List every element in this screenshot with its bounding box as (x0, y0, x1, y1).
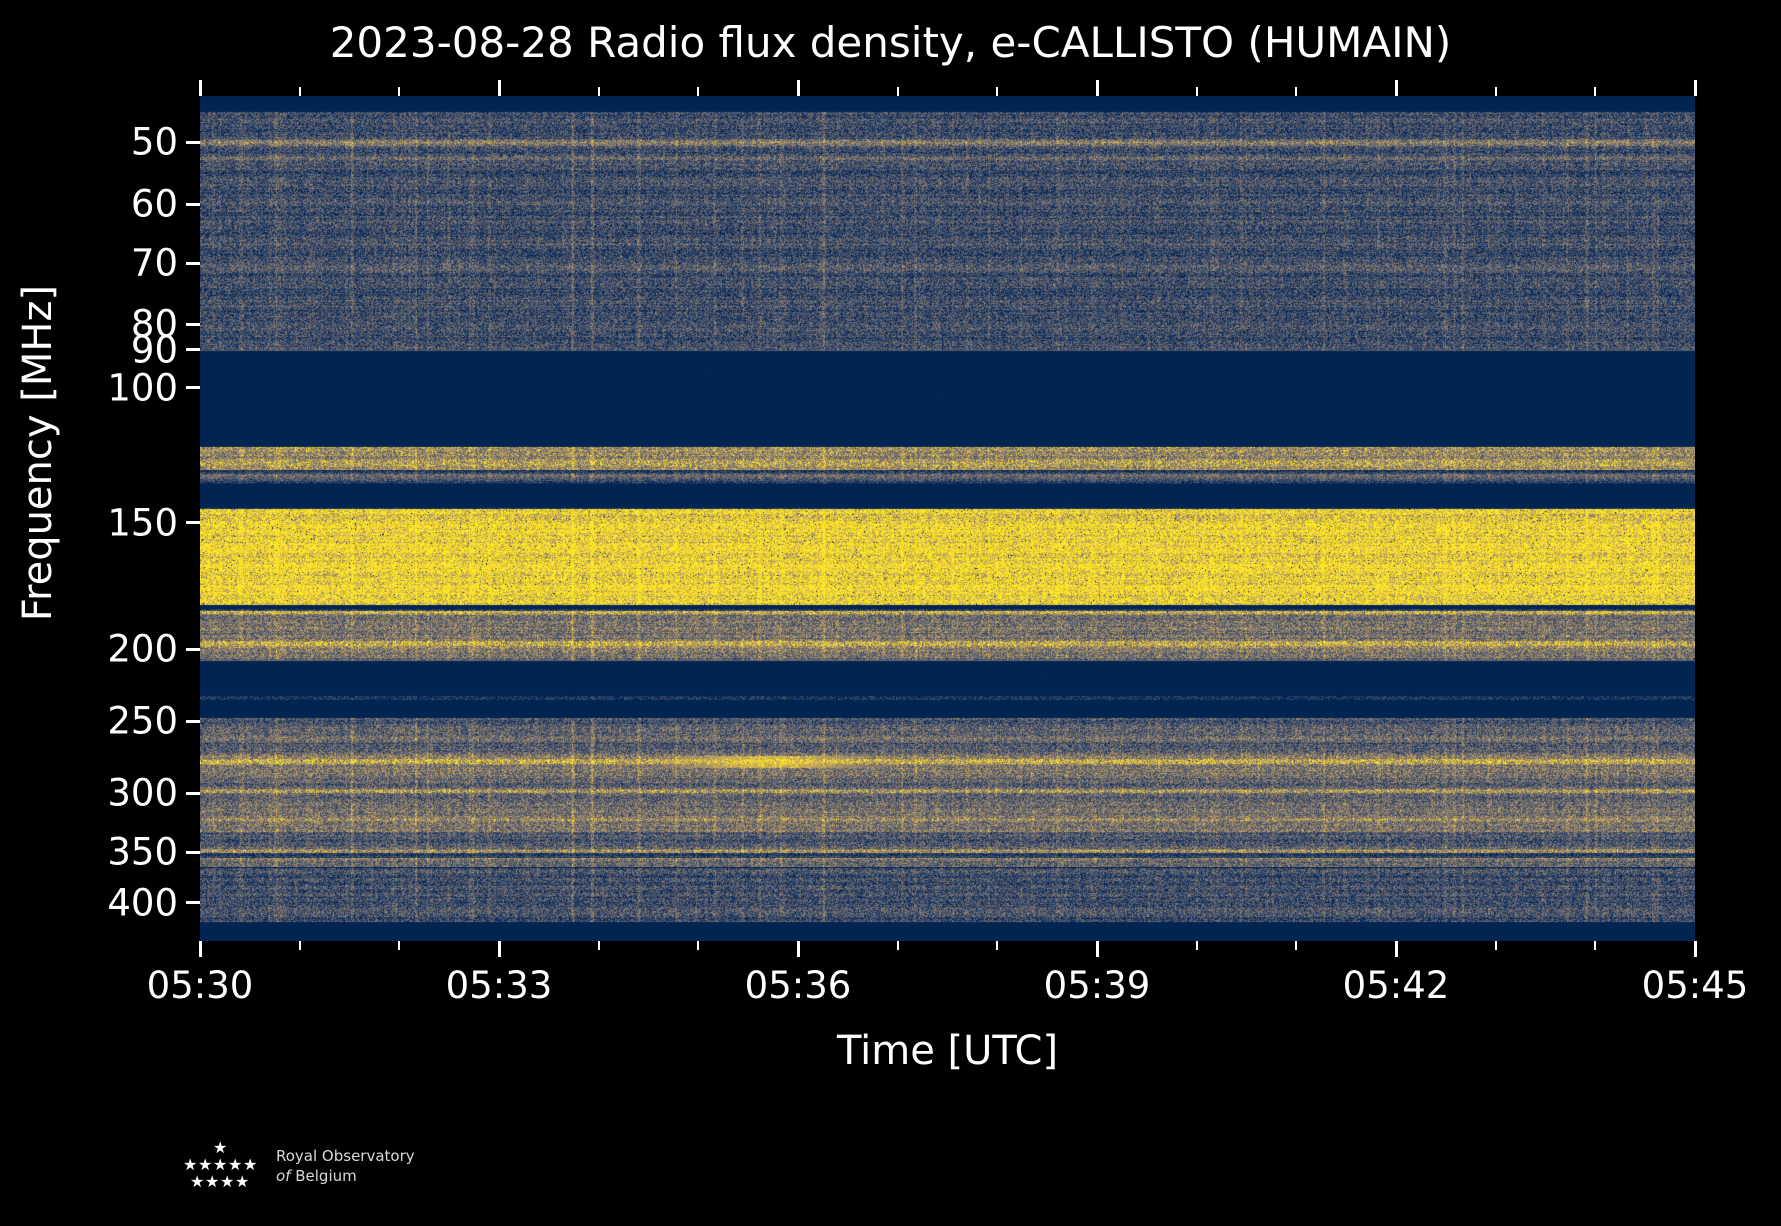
x-tick-top-15 (1694, 80, 1697, 96)
page-title: 2023-08-28 Radio flux density, e-CALLIST… (0, 18, 1781, 67)
x-tick-11 (1295, 941, 1297, 950)
y-tick-label-350: 350 (107, 834, 178, 871)
spectrogram-canvas[interactable] (200, 96, 1695, 941)
x-tick-top-0 (199, 80, 202, 96)
star-icon: ★ (205, 1174, 219, 1190)
star-icon: ★ (213, 1157, 227, 1173)
y-tick-400 (186, 901, 200, 904)
x-tick-2 (398, 941, 400, 950)
x-tick-top-5 (697, 87, 699, 96)
x-tick-top-7 (897, 87, 899, 96)
star-icon: ★ (235, 1174, 249, 1190)
y-tick-label-50: 50 (131, 124, 178, 161)
spectrogram-image (200, 96, 1695, 941)
y-tick-50 (186, 141, 200, 144)
y-tick-250 (186, 720, 200, 723)
y-tick-100 (186, 386, 200, 389)
y-tick-300 (186, 792, 200, 795)
y-axis: 5060708090100150200250300350400 (0, 96, 200, 941)
x-tick-5 (697, 941, 699, 950)
star-icon: ★ (183, 1157, 197, 1173)
x-tick-7 (897, 941, 899, 950)
x-tick-top-13 (1495, 87, 1497, 96)
x-tick-label-05-42: 05:42 (1343, 967, 1450, 1004)
logo-line-1: Royal Observatory (276, 1146, 415, 1166)
y-tick-label-200: 200 (107, 631, 178, 668)
x-tick-13 (1495, 941, 1497, 950)
star-icon: ★ (213, 1140, 227, 1156)
logo-belgium: Belgium (295, 1167, 357, 1185)
x-tick-3 (498, 941, 501, 957)
x-tick-8 (996, 941, 998, 950)
x-tick-label-05-36: 05:36 (745, 967, 852, 1004)
x-tick-9 (1096, 941, 1099, 957)
x-tick-0 (199, 941, 202, 957)
x-tick-label-05-45: 05:45 (1642, 967, 1749, 1004)
x-tick-4 (598, 941, 600, 950)
x-tick-top-1 (299, 87, 301, 96)
x-tick-top-11 (1295, 87, 1297, 96)
y-tick-150 (186, 521, 200, 524)
y-tick-label-250: 250 (107, 703, 178, 740)
x-axis-title: Time [UTC] (200, 1028, 1695, 1074)
x-tick-top-12 (1395, 80, 1398, 96)
y-tick-70 (186, 262, 200, 265)
y-tick-label-150: 150 (107, 504, 178, 541)
y-tick-label-400: 400 (107, 884, 178, 921)
star-icon: ★ (228, 1157, 242, 1173)
x-tick-top-10 (1196, 87, 1198, 96)
star-icon: ★ (190, 1174, 204, 1190)
x-tick-top-2 (398, 87, 400, 96)
star-icon: ★ (198, 1157, 212, 1173)
x-axis-top (200, 80, 1695, 96)
star-icon: ★ (243, 1157, 257, 1173)
x-tick-6 (797, 941, 800, 957)
y-tick-350 (186, 851, 200, 854)
x-tick-15 (1694, 941, 1697, 957)
x-tick-10 (1196, 941, 1198, 950)
y-tick-label-60: 60 (131, 186, 178, 223)
x-tick-label-05-30: 05:30 (147, 967, 254, 1004)
y-tick-60 (186, 203, 200, 206)
logo-line-2: of Belgium (276, 1166, 415, 1186)
x-tick-14 (1594, 941, 1596, 950)
x-tick-label-05-39: 05:39 (1044, 967, 1151, 1004)
y-tick-label-90: 90 (131, 331, 178, 368)
x-tick-top-6 (797, 80, 800, 96)
star-icon: ★ (220, 1174, 234, 1190)
x-tick-label-05-33: 05:33 (446, 967, 553, 1004)
x-tick-top-14 (1594, 87, 1596, 96)
x-tick-top-4 (598, 87, 600, 96)
x-tick-top-9 (1096, 80, 1099, 96)
x-axis: 05:3005:3305:3605:3905:4205:45 (200, 941, 1695, 1011)
x-tick-1 (299, 941, 301, 950)
y-tick-80 (186, 323, 200, 326)
stars-icon: ★★★★★★★★★★ (180, 1140, 262, 1192)
y-tick-90 (186, 348, 200, 351)
x-tick-top-8 (996, 87, 998, 96)
logo-text: Royal Observatory of Belgium (276, 1146, 415, 1187)
spectrogram-figure: 2023-08-28 Radio flux density, e-CALLIST… (0, 0, 1781, 1226)
royal-observatory-logo: ★★★★★★★★★★ Royal Observatory of Belgium (180, 1140, 415, 1192)
y-tick-label-70: 70 (131, 245, 178, 282)
y-tick-label-100: 100 (107, 369, 178, 406)
logo-of: of (276, 1167, 290, 1185)
x-tick-12 (1395, 941, 1398, 957)
x-tick-top-3 (498, 80, 501, 96)
y-tick-200 (186, 648, 200, 651)
y-tick-label-300: 300 (107, 775, 178, 812)
